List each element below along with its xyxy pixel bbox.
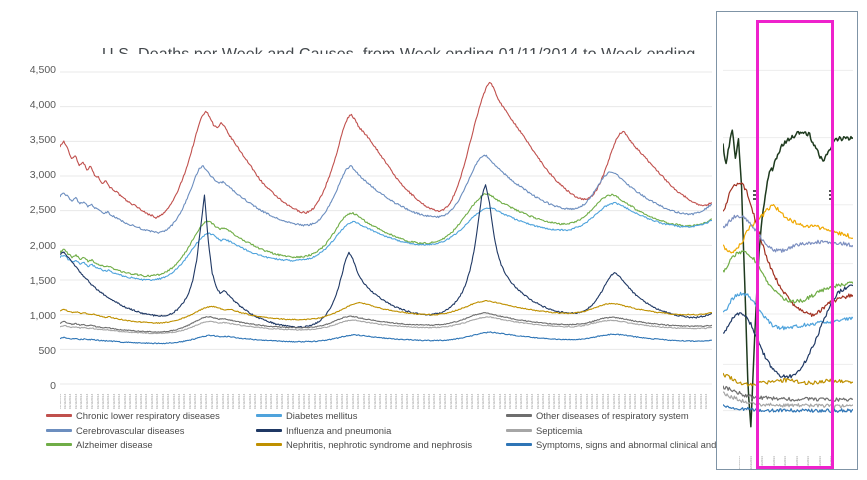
x-axis-tick: 01/11/2014 (662, 394, 665, 409)
legend-item[interactable]: Septicemia (506, 425, 582, 436)
y-axis-tick: 2,500 (8, 204, 56, 216)
x-axis-tick: 01/11/2014 (173, 394, 176, 409)
x-axis-tick: 01/11/2014 (428, 394, 431, 409)
x-axis-tick: 01/11/2014 (363, 394, 366, 409)
overlay-x-axis-tick: 01/11/2014 (739, 456, 741, 470)
x-axis-tick: 01/11/2014 (683, 394, 686, 409)
x-axis-tick: 01/11/2014 (276, 394, 279, 409)
series-line (60, 194, 712, 277)
legend-color-swatch (506, 414, 532, 417)
x-axis-tick: 01/11/2014 (422, 394, 425, 409)
legend-item[interactable]: Cerebrovascular diseases (46, 425, 184, 436)
x-axis-tick: 01/11/2014 (466, 394, 469, 409)
overlay-x-axis-tick: 01/11/2014 (773, 456, 776, 470)
x-axis-tick: 01/11/2014 (613, 394, 616, 409)
axis-break-icon (829, 190, 834, 204)
x-axis-tick: 01/11/2014 (439, 394, 442, 409)
x-axis-tick: 01/11/2014 (477, 394, 480, 409)
y-axis-tick: 2,000 (8, 240, 56, 252)
x-axis-tick: 01/11/2014 (189, 394, 192, 409)
legend-color-swatch (256, 443, 282, 446)
axis-break-icon (753, 190, 758, 204)
x-axis-tick: 01/11/2014 (211, 394, 214, 409)
legend-item[interactable]: Other diseases of respiratory system (506, 410, 689, 421)
x-axis-tick: 01/11/2014 (580, 394, 583, 409)
x-axis-tick: 01/11/2014 (352, 394, 355, 409)
x-axis-tick: 01/11/2014 (330, 394, 333, 409)
x-axis-tick: 01/11/2014 (618, 394, 621, 409)
x-axis-tick: 01/11/2014 (232, 394, 235, 409)
x-axis-tick: 01/11/2014 (118, 394, 121, 409)
overlay-content: 01/11/201401/11/201401/11/201401/11/2014… (717, 12, 858, 470)
x-axis-tick: 01/11/2014 (455, 394, 458, 409)
x-axis-tick: 01/11/2014 (602, 394, 605, 409)
x-axis-tick: 01/11/2014 (591, 394, 594, 409)
chart-svg (60, 70, 712, 386)
x-axis-tick: 01/11/2014 (238, 394, 241, 409)
x-axis-tick: 01/11/2014 (499, 394, 502, 409)
x-axis-tick: 01/11/2014 (537, 394, 540, 409)
x-axis-tick: 01/11/2014 (460, 394, 463, 409)
x-axis-tick: 01/11/2014 (504, 394, 507, 409)
x-axis-tick: 01/11/2014 (292, 394, 295, 409)
x-axis-tick: 01/11/2014 (134, 394, 137, 409)
legend-color-swatch (46, 414, 72, 417)
x-axis-tick: 01/11/2014 (417, 394, 420, 409)
x-axis-tick: 01/11/2014 (357, 394, 360, 409)
x-axis-tick: 01/11/2014 (200, 394, 203, 409)
overlay-series-line (723, 292, 853, 329)
x-axis-tick: 01/11/2014 (689, 394, 692, 409)
overlay-x-axis-tick: 01/11/2014 (807, 456, 810, 470)
y-axis-tick: 3,000 (8, 169, 56, 181)
x-axis-tick: 01/11/2014 (596, 394, 599, 409)
x-axis-tick: 01/11/2014 (395, 394, 398, 409)
x-axis-tick: 01/11/2014 (265, 394, 268, 409)
overlay-x-axis-tick: 01/11/2014 (784, 456, 787, 470)
overlay-x-axis-tick: 01/11/2014 (830, 456, 833, 470)
x-axis-tick: 01/11/2014 (194, 394, 197, 409)
x-axis-tick: 01/11/2014 (216, 394, 219, 409)
legend-label: Alzheimer disease (76, 439, 153, 450)
x-axis-tick: 01/11/2014 (656, 394, 659, 409)
series-line (60, 317, 712, 334)
y-axis-tick: 500 (8, 345, 56, 357)
x-axis-tick: 01/11/2014 (374, 394, 377, 409)
legend-label: Influenza and pneumonia (286, 425, 391, 436)
legend-label: Chronic lower respiratory diseases (76, 410, 220, 421)
x-axis-tick: 01/11/2014 (140, 394, 143, 409)
x-axis-tick: 01/11/2014 (585, 394, 588, 409)
legend-item[interactable]: Nephritis, nephrotic syndrome and nephro… (256, 439, 472, 450)
y-axis: 4,5004,0003,5003,0002,5002,0001,5001,000… (8, 68, 56, 388)
x-axis-tick: 01/11/2014 (390, 394, 393, 409)
x-axis-tick: 01/11/2014 (227, 394, 230, 409)
x-axis-tick: 01/11/2014 (243, 394, 246, 409)
x-axis-tick: 01/11/2014 (433, 394, 436, 409)
x-axis-tick: 01/11/2014 (254, 394, 257, 409)
y-axis-tick: 4,000 (8, 99, 56, 111)
legend-label: Other diseases of respiratory system (536, 410, 689, 421)
x-axis-tick: 01/11/2014 (531, 394, 534, 409)
x-axis-tick: 01/11/2014 (569, 394, 572, 409)
legend-color-swatch (46, 429, 72, 432)
x-axis-tick: 01/11/2014 (96, 394, 99, 409)
legend-label: Diabetes mellitus (286, 410, 357, 421)
y-axis-tick: 0 (8, 380, 56, 392)
series-line (60, 185, 712, 328)
x-axis-tick: 01/11/2014 (80, 394, 83, 409)
x-axis-tick: 01/11/2014 (129, 394, 132, 409)
x-axis-tick: 01/11/2014 (645, 394, 648, 409)
x-axis-tick: 01/11/2014 (102, 394, 105, 409)
y-axis-tick: 1,500 (8, 275, 56, 287)
x-axis-tick: 01/11/2014 (515, 394, 518, 409)
x-axis-tick: 01/11/2014 (607, 394, 610, 409)
x-axis-tick: 01/11/2014 (700, 394, 703, 409)
series-line (60, 301, 712, 324)
chart-legend: Chronic lower respiratory diseasesCerebr… (46, 410, 746, 458)
x-axis-tick: 01/11/2014 (401, 394, 404, 409)
legend-item[interactable]: Chronic lower respiratory diseases (46, 410, 220, 421)
x-axis-tick: 01/11/2014 (341, 394, 344, 409)
overlay-x-axis-tick: 01/11/2014 (796, 456, 799, 470)
x-axis-tick: 01/11/2014 (151, 394, 154, 409)
x-axis-tick: 01/11/2014 (259, 394, 262, 409)
x-axis-tick: 01/11/2014 (509, 394, 512, 409)
x-axis-tick: 01/11/2014 (64, 394, 67, 409)
x-axis-tick: 01/11/2014 (325, 394, 328, 409)
zoom-inspector-panel[interactable]: 01/11/201401/11/201401/11/201401/11/2014… (716, 11, 858, 470)
x-axis: 01/11/201401/11/201401/11/201401/11/2014… (60, 387, 712, 409)
x-axis-tick: 01/11/2014 (651, 394, 654, 409)
x-axis-tick: 01/11/2014 (221, 394, 224, 409)
legend-color-swatch (506, 443, 532, 446)
main-chart: U.S. Deaths per Week and Causes, from We… (0, 0, 720, 480)
x-axis-tick: 01/11/2014 (368, 394, 371, 409)
x-axis-tick: 01/11/2014 (678, 394, 681, 409)
series-line (60, 202, 712, 280)
x-axis-tick: 01/11/2014 (564, 394, 567, 409)
x-axis-tick: 01/11/2014 (303, 394, 306, 409)
x-axis-tick: 01/11/2014 (412, 394, 415, 409)
overlay-x-axis-tick: 01/11/2014 (819, 456, 822, 470)
x-axis-tick: 01/11/2014 (75, 394, 78, 409)
x-axis-tick: 01/11/2014 (379, 394, 382, 409)
x-axis-tick: 01/11/2014 (488, 394, 491, 409)
x-axis-tick: 01/11/2014 (629, 394, 632, 409)
x-axis-tick: 01/11/2014 (493, 394, 496, 409)
series-line (60, 82, 712, 218)
legend-color-swatch (256, 429, 282, 432)
x-axis-tick: 01/11/2014 (623, 394, 626, 409)
x-axis-tick: 01/11/2014 (69, 394, 72, 409)
y-axis-tick: 1,000 (8, 310, 56, 322)
x-axis-tick: 01/11/2014 (91, 394, 94, 409)
x-axis-tick: 01/11/2014 (162, 394, 165, 409)
x-axis-tick: 01/11/2014 (319, 394, 322, 409)
x-axis-tick: 01/11/2014 (482, 394, 485, 409)
x-axis-tick: 01/11/2014 (314, 394, 317, 409)
x-axis-tick: 01/11/2014 (542, 394, 545, 409)
x-axis-tick: 01/11/2014 (205, 394, 208, 409)
legend-item[interactable]: Alzheimer disease (46, 439, 153, 450)
chart-title-clip: U.S. Deaths per Week and Causes, from We… (40, 20, 716, 54)
x-axis-tick: 01/11/2014 (145, 394, 148, 409)
x-axis-tick: 01/11/2014 (156, 394, 159, 409)
overlay-x-axis-tick: 01/11/2014 (761, 456, 764, 470)
x-axis-tick: 01/11/2014 (667, 394, 670, 409)
x-axis-tick: 01/11/2014 (346, 394, 349, 409)
overlay-plot-area (723, 20, 853, 440)
x-axis-tick: 01/11/2014 (60, 394, 62, 409)
x-axis-tick: 01/11/2014 (640, 394, 643, 409)
series-line (60, 155, 712, 233)
x-axis-tick: 01/11/2014 (270, 394, 273, 409)
x-axis-tick: 01/11/2014 (547, 394, 550, 409)
y-axis-tick: 3,500 (8, 134, 56, 146)
overlay-x-axis-tick: 01/11/2014 (750, 456, 753, 470)
x-axis-tick: 01/11/2014 (336, 394, 339, 409)
overlay-series-line (723, 251, 853, 303)
legend-label: Septicemia (536, 425, 582, 436)
x-axis-tick: 01/11/2014 (183, 394, 186, 409)
overlay-x-axis: 01/11/201401/11/201401/11/201401/11/2014… (739, 449, 849, 470)
x-axis-tick: 01/11/2014 (406, 394, 409, 409)
x-axis-tick: 01/11/2014 (575, 394, 578, 409)
x-axis-tick: 01/11/2014 (672, 394, 675, 409)
legend-color-swatch (256, 414, 282, 417)
x-axis-tick: 01/11/2014 (526, 394, 529, 409)
x-axis-tick: 01/11/2014 (520, 394, 523, 409)
x-axis-tick: 01/11/2014 (694, 394, 697, 409)
x-axis-tick: 01/11/2014 (450, 394, 453, 409)
y-axis-tick: 4,500 (8, 64, 56, 76)
overlay-chart-svg (723, 20, 853, 440)
x-axis-tick: 01/11/2014 (308, 394, 311, 409)
legend-label: Cerebrovascular diseases (76, 425, 184, 436)
overlay-series-line (723, 130, 853, 427)
legend-item[interactable]: Influenza and pneumonia (256, 425, 391, 436)
x-axis-tick: 01/11/2014 (124, 394, 127, 409)
x-axis-tick: 01/11/2014 (281, 394, 284, 409)
x-axis-tick: 01/11/2014 (705, 394, 708, 409)
legend-item[interactable]: Diabetes mellitus (256, 410, 357, 421)
x-axis-tick: 01/11/2014 (178, 394, 181, 409)
x-axis-tick: 01/11/2014 (167, 394, 170, 409)
x-axis-tick: 01/11/2014 (444, 394, 447, 409)
legend-color-swatch (46, 443, 72, 446)
x-axis-tick: 01/11/2014 (558, 394, 561, 409)
x-axis-tick: 01/11/2014 (297, 394, 300, 409)
legend-color-swatch (506, 429, 532, 432)
x-axis-tick: 01/11/2014 (634, 394, 637, 409)
x-axis-tick: 01/11/2014 (86, 394, 89, 409)
x-axis-tick: 01/11/2014 (249, 394, 252, 409)
x-axis-tick: 01/11/2014 (287, 394, 290, 409)
x-axis-tick: 01/11/2014 (113, 394, 116, 409)
x-axis-tick: 01/11/2014 (107, 394, 110, 409)
x-axis-tick: 01/11/2014 (553, 394, 556, 409)
screenshot-root: U.S. Deaths per Week and Causes, from We… (0, 0, 867, 480)
x-axis-tick: 01/11/2014 (384, 394, 387, 409)
x-axis-tick: 01/11/2014 (471, 394, 474, 409)
overlay-series-line (723, 373, 853, 386)
page-title: U.S. Deaths per Week and Causes, from We… (102, 46, 695, 54)
plot-area (60, 70, 712, 386)
legend-label: Nephritis, nephrotic syndrome and nephro… (286, 439, 472, 450)
